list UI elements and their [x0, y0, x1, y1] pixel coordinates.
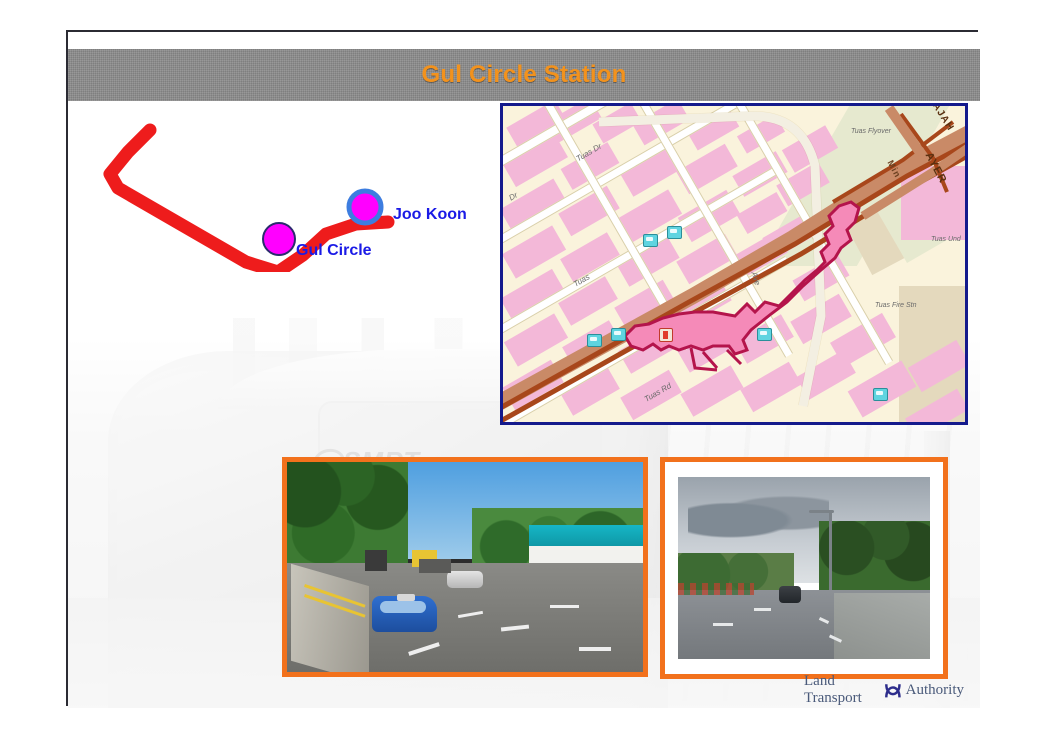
bus-stop-icon[interactable] — [873, 388, 888, 401]
photo-inner — [678, 477, 930, 659]
photo-lane-marking — [713, 623, 733, 626]
station-dot-gul-circle[interactable] — [263, 223, 295, 255]
photo-dark-car — [779, 586, 802, 602]
bus-stop-icon[interactable] — [757, 328, 772, 341]
photo-streetlight-arm — [809, 510, 834, 513]
lta-word-right: Authority — [906, 682, 964, 699]
photo-truck — [365, 550, 386, 571]
station-label-gul-circle: Gul Circle — [296, 242, 372, 260]
map-label-tuas-fire-stn: Tuas Fire Stn — [875, 302, 917, 310]
photo-lane-marking — [754, 608, 772, 611]
map-label-tuas-flyover: Tuas Flyover — [851, 128, 901, 136]
station-footprint-outline[interactable] — [503, 106, 968, 425]
photo-taxi-sign — [397, 594, 415, 600]
page-title: Gul Circle Station — [422, 61, 627, 89]
map-label-tuas-und: Tuas Und — [931, 236, 968, 244]
station-dot-joo-koon[interactable] — [349, 191, 381, 223]
bus-stop-icon[interactable] — [611, 328, 626, 341]
lta-ribbon-icon — [883, 679, 903, 701]
slide-canvas: SMRT Gul Circle Station Gul Circle Joo K… — [66, 30, 978, 706]
land-transport-authority-logo: Land Transport Authority — [804, 677, 964, 703]
photo-streetlight — [829, 510, 832, 590]
map-canvas: Tuas Dr Dr Tuas Ave Tuas Rd Tuas Flyover… — [503, 106, 965, 422]
photo-petrol-station-base — [529, 546, 643, 563]
station-label-joo-koon: Joo Koon — [393, 206, 467, 224]
slide-header-band: Gul Circle Station — [68, 49, 980, 101]
photo-lane-marking — [550, 605, 578, 608]
photo-taxi-window — [380, 601, 426, 614]
photo-flower-bed — [678, 583, 754, 596]
photo-kerb-right — [834, 593, 930, 659]
photo-lane-marking — [579, 647, 611, 651]
bus-stop-icon[interactable] — [643, 234, 658, 247]
site-photo-road-with-taxi[interactable] — [282, 457, 648, 677]
photo-petrol-station — [529, 525, 643, 546]
site-photo-road-overcast[interactable] — [660, 457, 948, 679]
petrol-station-icon[interactable] — [659, 328, 673, 342]
gul-circle-locality-map[interactable]: Tuas Dr Dr Tuas Ave Tuas Rd Tuas Flyover… — [500, 103, 968, 425]
photo-trees-right — [819, 521, 930, 597]
photo-cloud — [688, 492, 829, 539]
bus-stop-icon[interactable] — [587, 334, 602, 347]
photo-silver-car — [447, 571, 483, 588]
photo-lorry — [419, 559, 451, 574]
mrt-line-schematic: Gul Circle Joo Koon — [88, 122, 508, 272]
lta-word-left: Land Transport — [804, 673, 880, 707]
bus-stop-icon[interactable] — [667, 226, 682, 239]
